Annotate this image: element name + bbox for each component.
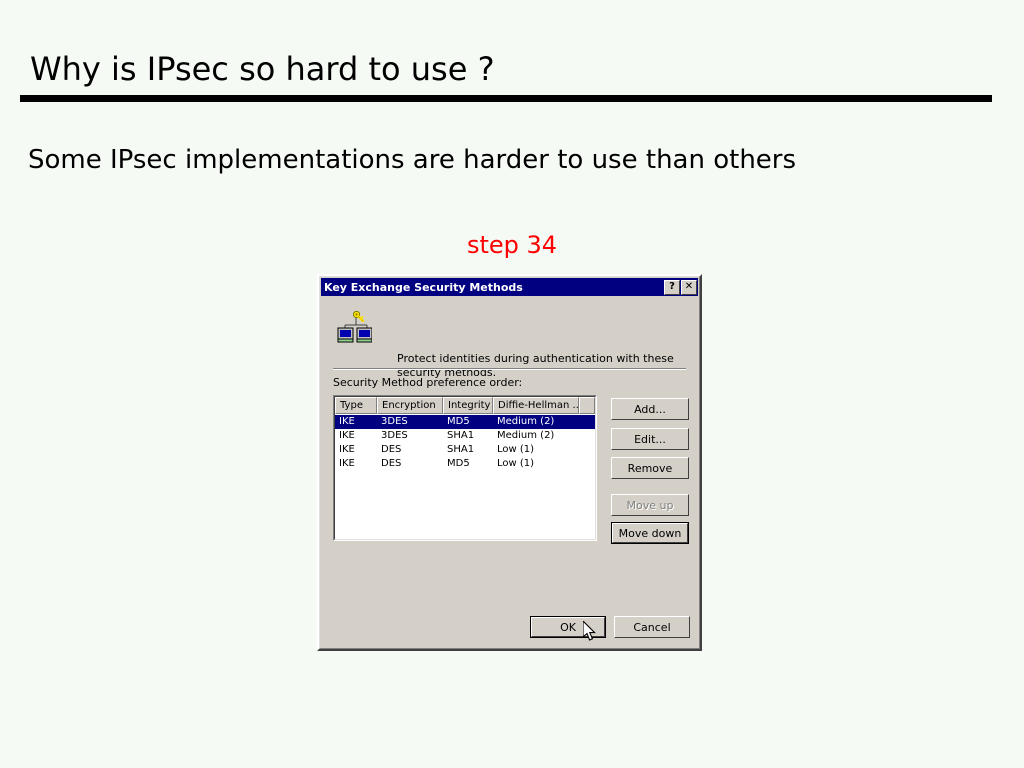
column-header-diffie-hellman[interactable]: Diffie-Hellman ... — [493, 397, 579, 414]
header-separator — [333, 368, 686, 370]
cell-integrity: MD5 — [443, 457, 493, 471]
ok-label: OK — [560, 621, 576, 634]
table-row[interactable]: IKE DES SHA1 Low (1) — [335, 443, 595, 457]
remove-button[interactable]: Remove — [611, 457, 689, 479]
help-icon[interactable]: ? — [664, 280, 680, 295]
listview-header-row: Type Encryption Integrity Diffie-Hellman… — [335, 397, 595, 414]
key-exchange-icon — [336, 310, 372, 344]
table-row[interactable]: IKE DES MD5 Low (1) — [335, 457, 595, 471]
key-exchange-security-methods-dialog: Key Exchange Security Methods ? ✕ — [317, 274, 702, 651]
ok-button[interactable]: OK — [530, 616, 606, 638]
cell-diffie-hellman: Medium (2) — [493, 415, 579, 429]
add-button[interactable]: Add... — [611, 398, 689, 420]
cell-diffie-hellman: Low (1) — [493, 443, 579, 457]
security-methods-listview[interactable]: Type Encryption Integrity Diffie-Hellman… — [333, 395, 597, 541]
listview-inner: Type Encryption Integrity Diffie-Hellman… — [334, 396, 596, 540]
cell-type: IKE — [335, 415, 377, 429]
edit-button[interactable]: Edit... — [611, 428, 689, 450]
listview-body: IKE 3DES MD5 Medium (2) IKE 3DES SHA1 Me… — [335, 414, 595, 540]
security-method-order-label: Security Method preference order: — [333, 376, 522, 389]
column-header-type[interactable]: Type — [335, 397, 377, 414]
close-icon[interactable]: ✕ — [681, 280, 697, 295]
column-header-encryption[interactable]: Encryption — [377, 397, 443, 414]
title-divider — [20, 95, 992, 102]
cell-integrity: SHA1 — [443, 429, 493, 443]
cell-diffie-hellman: Medium (2) — [493, 429, 579, 443]
table-row[interactable]: IKE 3DES MD5 Medium (2) — [335, 415, 595, 429]
cell-encryption: DES — [377, 457, 443, 471]
cancel-button[interactable]: Cancel — [614, 616, 690, 638]
move-down-button[interactable]: Move down — [611, 522, 689, 544]
step-label: step 34 — [0, 231, 1024, 259]
table-row[interactable]: IKE 3DES SHA1 Medium (2) — [335, 429, 595, 443]
slide-subtitle: Some IPsec implementations are harder to… — [28, 145, 796, 175]
dialog-titlebar[interactable]: Key Exchange Security Methods ? ✕ — [321, 278, 698, 296]
column-header-extra[interactable] — [579, 397, 595, 414]
cell-integrity: MD5 — [443, 415, 493, 429]
cell-encryption: DES — [377, 443, 443, 457]
dialog-header: Protect identities during authentication… — [321, 300, 698, 368]
move-up-button: Move up — [611, 494, 689, 516]
cell-type: IKE — [335, 429, 377, 443]
cell-encryption: 3DES — [377, 429, 443, 443]
cell-diffie-hellman: Low (1) — [493, 457, 579, 471]
column-header-integrity[interactable]: Integrity — [443, 397, 493, 414]
cell-encryption: 3DES — [377, 415, 443, 429]
cell-integrity: SHA1 — [443, 443, 493, 457]
move-down-label: Move down — [619, 527, 682, 540]
cell-type: IKE — [335, 443, 377, 457]
dialog-title: Key Exchange Security Methods — [324, 281, 663, 294]
cell-type: IKE — [335, 457, 377, 471]
page-title: Why is IPsec so hard to use ? — [30, 50, 495, 88]
